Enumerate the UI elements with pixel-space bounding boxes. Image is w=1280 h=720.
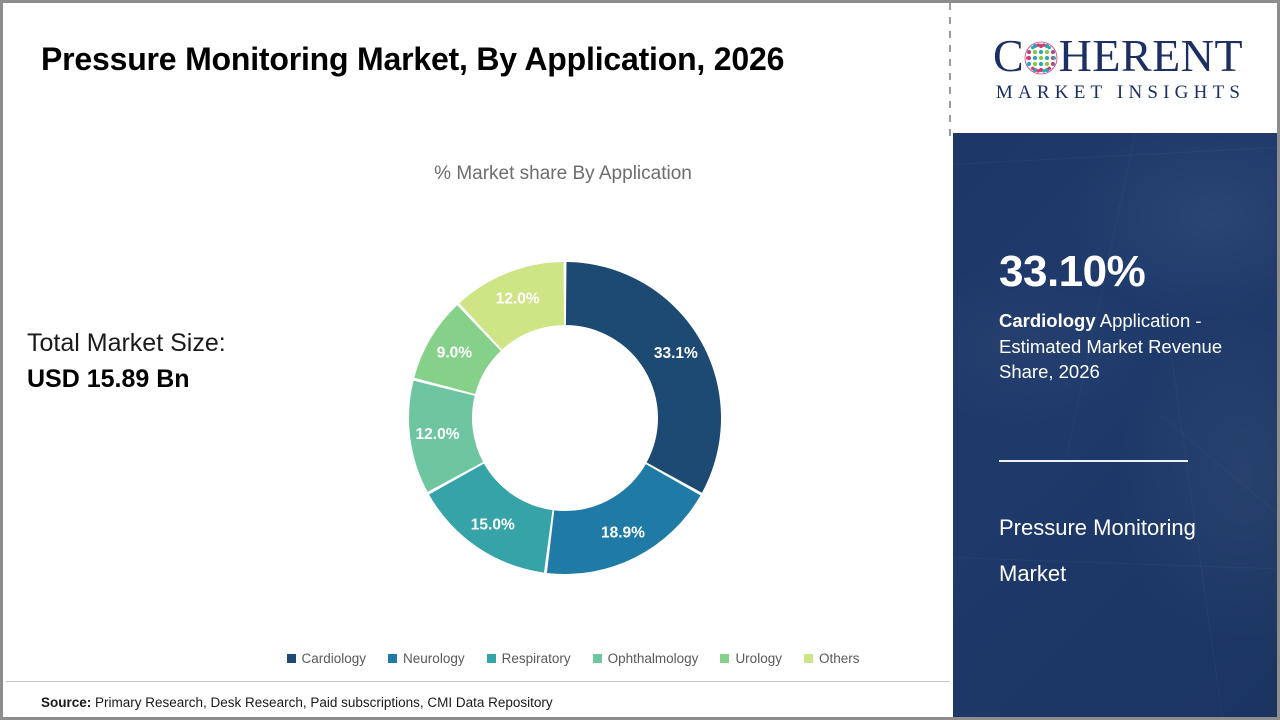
globe-dot <box>1052 56 1056 60</box>
globe-dot <box>1044 55 1048 59</box>
globe-dot <box>1036 69 1040 73</box>
stat-description-bold: Cardiology <box>999 310 1096 331</box>
globe-dot <box>1036 43 1040 47</box>
infographic-frame: Pressure Monitoring Market, By Applicati… <box>0 0 1280 720</box>
globe-dot <box>1026 56 1030 60</box>
legend-label: Cardiology <box>302 651 367 666</box>
chart-subtitle: % Market share By Application <box>253 163 873 185</box>
panel-texture-line <box>953 144 1280 167</box>
donut-slice-cardiology[interactable] <box>566 262 721 493</box>
panel-horizontal-rule <box>999 460 1188 462</box>
globe-dot <box>1027 50 1031 54</box>
legend-item-urology[interactable]: Urology <box>720 651 782 666</box>
logo-word-rest: HERENT <box>1059 33 1243 79</box>
legend-item-others[interactable]: Others <box>804 651 860 666</box>
globe-dot <box>1038 49 1042 53</box>
globe-dot <box>1051 61 1055 65</box>
page-title: Pressure Monitoring Market, By Applicati… <box>41 35 861 85</box>
logo-tagline: MARKET INSIGHTS <box>991 82 1245 104</box>
legend-swatch-icon <box>388 654 397 663</box>
globe-dot <box>1032 55 1036 59</box>
stat-description: Cardiology Application - Estimated Marke… <box>999 308 1249 385</box>
globe-dot <box>1047 45 1051 49</box>
donut-slice-label-cardiology: 33.1% <box>654 345 698 362</box>
right-sidebar-pane: C HERENT MARKET INSIGHTS 33.10% Cardiolo… <box>953 3 1280 720</box>
stat-value: 33.10% <box>999 250 1145 294</box>
globe-dot <box>1038 61 1042 65</box>
donut-chart-svg: 33.1%18.9%15.0%12.0%9.0%12.0% <box>381 229 749 607</box>
logo-wordmark-row: C HERENT <box>993 33 1243 79</box>
market-name: Pressure Monitoring Market <box>999 505 1249 597</box>
globe-dot <box>1038 55 1042 59</box>
total-market-size-value: USD 15.89 Bn <box>27 362 327 398</box>
legend-swatch-icon <box>593 654 602 663</box>
donut-slice-label-respiratory: 15.0% <box>471 516 515 533</box>
donut-chart: 33.1%18.9%15.0%12.0%9.0%12.0% <box>381 229 749 607</box>
left-content-pane: Pressure Monitoring Market, By Applicati… <box>3 3 950 720</box>
source-label: Source: <box>41 695 91 710</box>
donut-slice-label-ophthalmology: 12.0% <box>416 426 460 443</box>
globe-dot <box>1032 49 1036 53</box>
globe-icon <box>1024 41 1058 75</box>
chart-legend: CardiologyNeurologyRespiratoryOphthalmol… <box>253 651 893 666</box>
globe-icon-svg <box>1024 41 1058 75</box>
donut-slice-label-urology: 9.0% <box>437 345 473 362</box>
donut-slice-label-others: 12.0% <box>496 291 540 308</box>
panel-texture-line <box>1160 415 1276 512</box>
legend-label: Respiratory <box>502 651 571 666</box>
globe-dot <box>1032 61 1036 65</box>
highlight-panel: 33.10% Cardiology Application - Estimate… <box>953 133 1280 720</box>
globe-dot <box>1044 61 1048 65</box>
legend-label: Ophthalmology <box>608 651 699 666</box>
legend-label: Neurology <box>403 651 465 666</box>
legend-swatch-icon <box>487 654 496 663</box>
legend-swatch-icon <box>720 654 729 663</box>
globe-dot <box>1047 66 1051 70</box>
globe-dot <box>1044 49 1048 53</box>
total-market-size-label: Total Market Size: <box>27 326 327 362</box>
source-text: Primary Research, Desk Research, Paid su… <box>91 695 552 710</box>
brand-logo: C HERENT MARKET INSIGHTS <box>953 3 1280 133</box>
source-line: Source: Primary Research, Desk Research,… <box>41 695 553 710</box>
legend-item-neurology[interactable]: Neurology <box>388 651 465 666</box>
vertical-dashed-divider <box>949 3 951 136</box>
globe-dot <box>1031 45 1035 49</box>
legend-item-cardiology[interactable]: Cardiology <box>287 651 367 666</box>
legend-item-ophthalmology[interactable]: Ophthalmology <box>593 651 699 666</box>
globe-dot <box>1027 61 1031 65</box>
globe-dot <box>1031 66 1035 70</box>
donut-slice-neurology[interactable] <box>547 464 701 574</box>
legend-label: Others <box>819 651 860 666</box>
legend-swatch-icon <box>287 654 296 663</box>
legend-swatch-icon <box>804 654 813 663</box>
globe-dot <box>1042 69 1046 73</box>
source-divider <box>6 681 950 682</box>
globe-dot <box>1051 50 1055 54</box>
total-market-size-block: Total Market Size: USD 15.89 Bn <box>27 326 327 397</box>
globe-dot <box>1042 43 1046 47</box>
donut-slice-group <box>409 262 721 574</box>
legend-label: Urology <box>735 651 782 666</box>
donut-slice-label-neurology: 18.9% <box>601 525 645 542</box>
legend-item-respiratory[interactable]: Respiratory <box>487 651 571 666</box>
panel-texture-line <box>1066 133 1142 459</box>
logo-letter-c: C <box>993 33 1024 79</box>
